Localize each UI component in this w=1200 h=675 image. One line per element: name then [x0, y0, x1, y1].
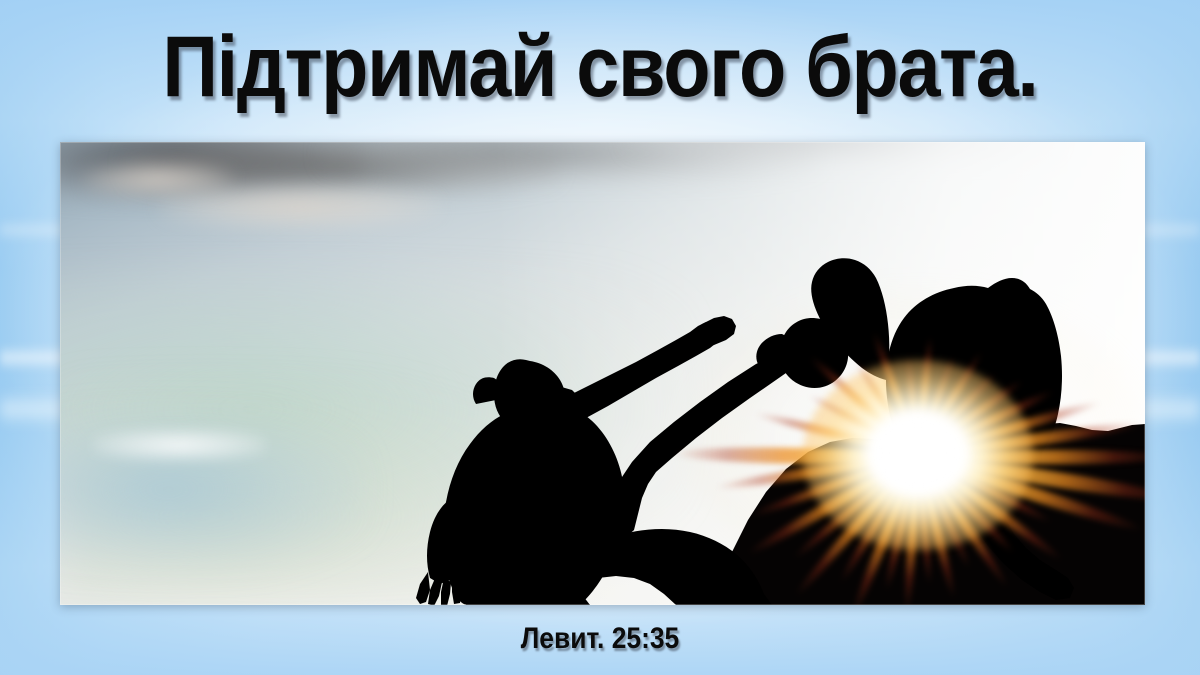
scripture-reference: Левит. 25:35 — [72, 622, 1128, 656]
photo-frame — [60, 142, 1145, 605]
photo-image — [60, 142, 1145, 605]
lower-climber-silhouette — [416, 316, 772, 605]
slide-canvas: Підтримай свого брата. — [0, 0, 1200, 675]
slide-title: Підтримай свого брата. — [60, 24, 1140, 110]
silhouette-layer — [60, 142, 1145, 605]
